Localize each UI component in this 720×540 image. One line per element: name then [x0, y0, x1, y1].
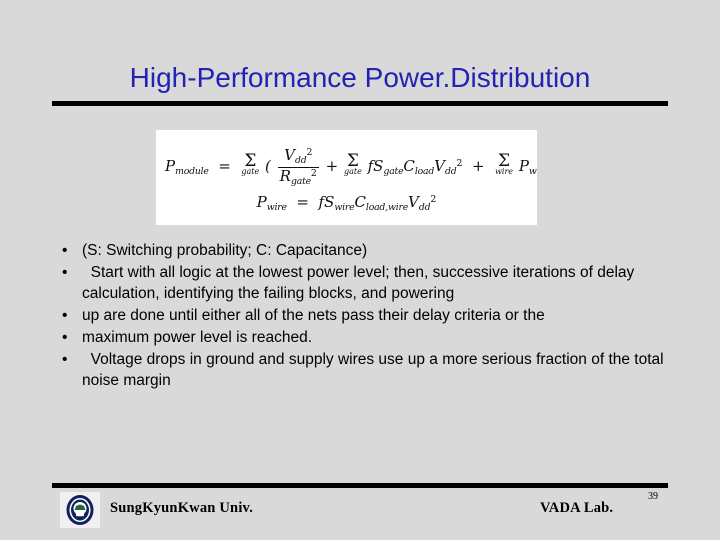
list-item: • Start with all logic at the lowest pow… [56, 262, 676, 304]
formula-plus-1: + [326, 157, 339, 175]
formula-image-box: Pmodule = Σgate ( Vdd2 Rgate2 + Σgate fS… [156, 130, 537, 225]
formula-fraction-vdd-rgate: Vdd2 Rgate2 [278, 148, 319, 186]
formula-symbol-V-dd-1: V [434, 157, 445, 175]
university-name: SungKyunKwan Univ. [110, 500, 253, 517]
bullet-text: Voltage drops in ground and supply wires… [82, 349, 676, 391]
university-seal-icon [60, 492, 100, 528]
formula-symbol-S-gate: S [373, 157, 383, 175]
formula-line-wire: Pwire = fSwireCload,wireVdd2 [156, 193, 537, 213]
formula-open-paren: ( [265, 157, 271, 175]
formula-line-module: Pmodule = Σgate ( Vdd2 Rgate2 + Σgate fS… [165, 148, 537, 186]
formula-symbol-S-wire: S [324, 193, 334, 211]
page-number: 39 [648, 491, 658, 502]
formula-symbol-P-wire-2: P [257, 193, 267, 211]
formula-subscript-module: module [175, 166, 209, 177]
formula-symbol-P: P [165, 157, 175, 175]
formula-symbol-P-wire-1: P [519, 157, 529, 175]
bullet-text: Start with all logic at the lowest power… [82, 262, 676, 304]
formula-sum-gate-2: Σgate [344, 154, 362, 175]
list-item: • maximum power level is reached. [56, 327, 676, 348]
list-item: • Voltage drops in ground and supply wir… [56, 349, 676, 391]
formula-plus-2: + [467, 157, 489, 175]
bullet-text: maximum power level is reached. [82, 327, 676, 348]
formula-sum-wire: Σwire [495, 154, 513, 175]
formula-symbol-V-dd-2: V [408, 193, 419, 211]
formula-symbol-C-load: C [403, 157, 414, 175]
slide-canvas: High-Performance Power.Distribution Pmod… [0, 0, 720, 540]
lab-name: VADA Lab. [540, 500, 613, 517]
bullet-list: • (S: Switching probability; C: Capacita… [56, 240, 676, 392]
bullet-marker-icon: • [56, 349, 82, 370]
formula-equals-2: = [292, 193, 314, 211]
bullet-text: up are done until either all of the nets… [82, 305, 676, 326]
bullet-marker-icon: • [56, 305, 82, 326]
bullet-marker-icon: • [56, 327, 82, 348]
bullet-text: (S: Switching probability; C: Capacitanc… [82, 240, 676, 261]
title-divider [52, 101, 668, 106]
list-item: • up are done until either all of the ne… [56, 305, 676, 326]
slide-footer: SungKyunKwan Univ. VADA Lab. 39 [0, 489, 720, 534]
bullet-marker-icon: • [56, 262, 82, 283]
formula-symbol-C-load-wire: C [354, 193, 365, 211]
formula-sum-gate-1: Σgate [241, 154, 259, 175]
page-title: High-Performance Power.Distribution [0, 62, 720, 94]
list-item: • (S: Switching probability; C: Capacita… [56, 240, 676, 261]
footer-divider [52, 483, 668, 488]
bullet-marker-icon: • [56, 240, 82, 261]
formula-equals: = [214, 157, 236, 175]
